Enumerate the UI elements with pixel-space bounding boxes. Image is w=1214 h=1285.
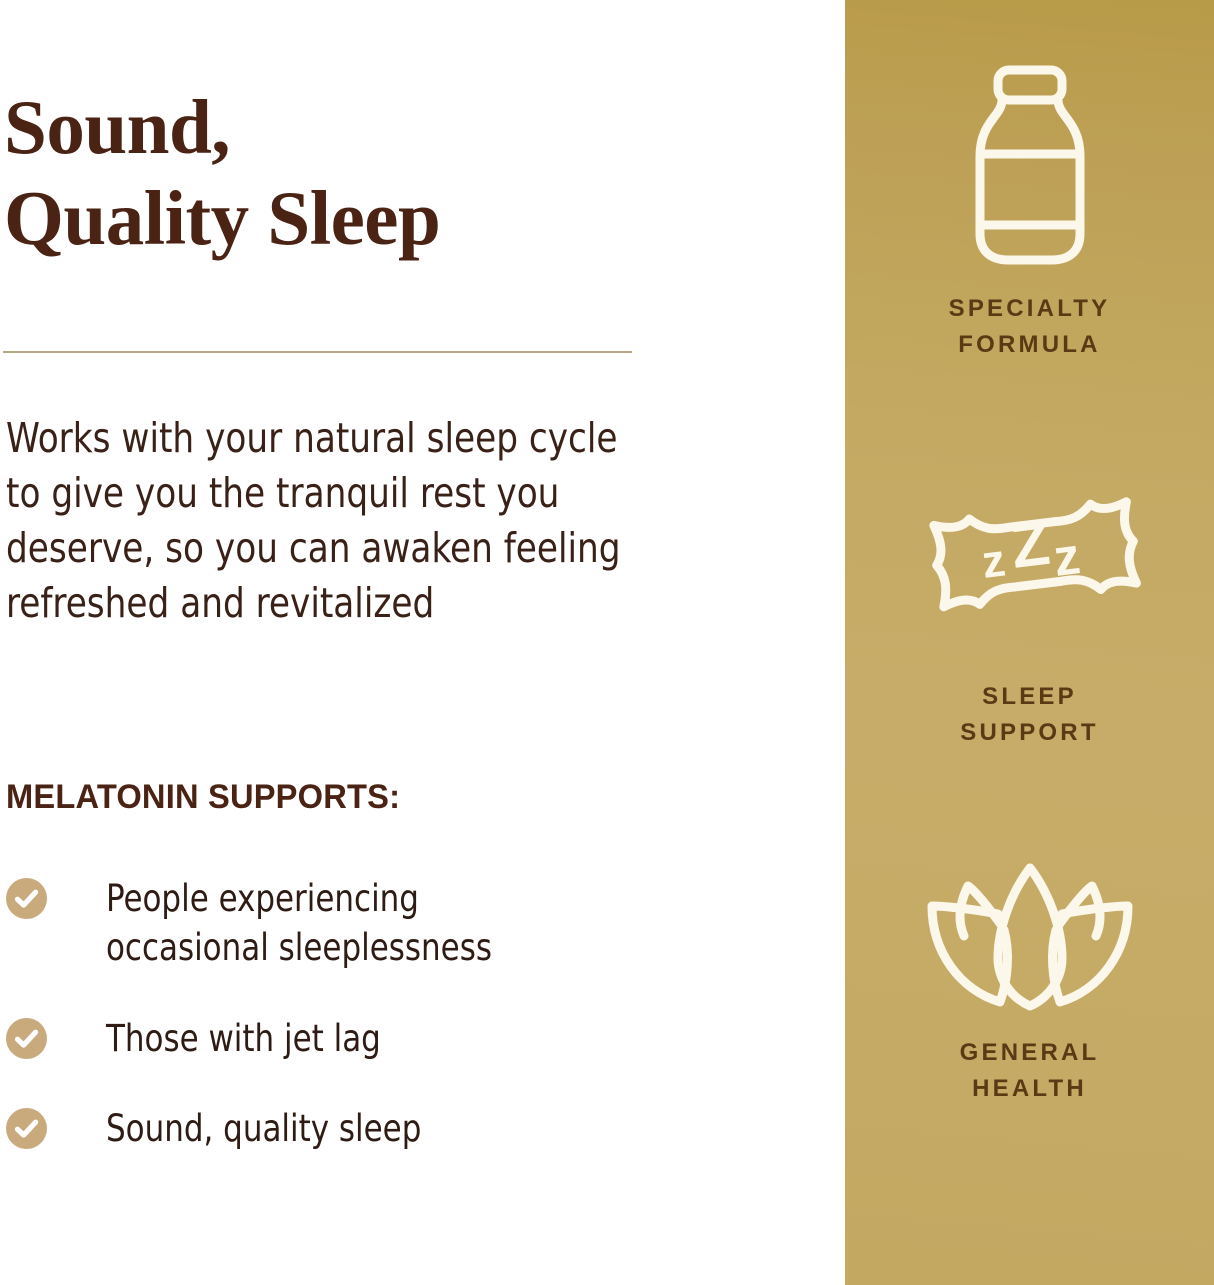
badge-specialty-formula: SPECIALTY FORMULA	[845, 62, 1214, 362]
badge-sleep-support: z Z z SLEEP SUPPORT	[845, 480, 1214, 750]
list-item: Sound, quality sleep	[6, 1105, 706, 1154]
list-item: People experiencing occasional sleepless…	[6, 875, 706, 973]
badge-label: SPECIALTY FORMULA	[949, 291, 1111, 362]
list-item: Those with jet lag	[6, 1015, 706, 1064]
check-circle-icon	[6, 878, 47, 919]
benefits-panel: SPECIALTY FORMULA z Z z SLEEP SUPPORT	[845, 0, 1214, 1285]
supplement-bottle-icon	[956, 62, 1104, 277]
lotus-flower-icon	[924, 856, 1136, 1021]
list-item-label: Sound, quality sleep	[106, 1105, 421, 1154]
badge-label: GENERAL HEALTH	[960, 1035, 1100, 1106]
left-content-column: Sound, Quality Sleep Works with your nat…	[0, 0, 845, 1285]
title-divider	[3, 351, 632, 353]
supports-list: People experiencing occasional sleepless…	[6, 875, 706, 1154]
svg-text:z: z	[978, 534, 1007, 588]
pillow-zzz-icon: z Z z	[910, 480, 1150, 665]
badge-general-health: GENERAL HEALTH	[845, 856, 1214, 1106]
check-circle-icon	[6, 1108, 47, 1149]
check-circle-icon	[6, 1018, 47, 1059]
badge-label: SLEEP SUPPORT	[960, 679, 1098, 750]
page-title: Sound, Quality Sleep	[4, 82, 664, 264]
intro-paragraph: Works with your natural sleep cycle to g…	[6, 411, 648, 631]
list-item-label: People experiencing occasional sleepless…	[106, 875, 492, 973]
list-item-label: Those with jet lag	[106, 1015, 381, 1064]
supports-heading: MELATONIN SUPPORTS:	[6, 778, 400, 817]
